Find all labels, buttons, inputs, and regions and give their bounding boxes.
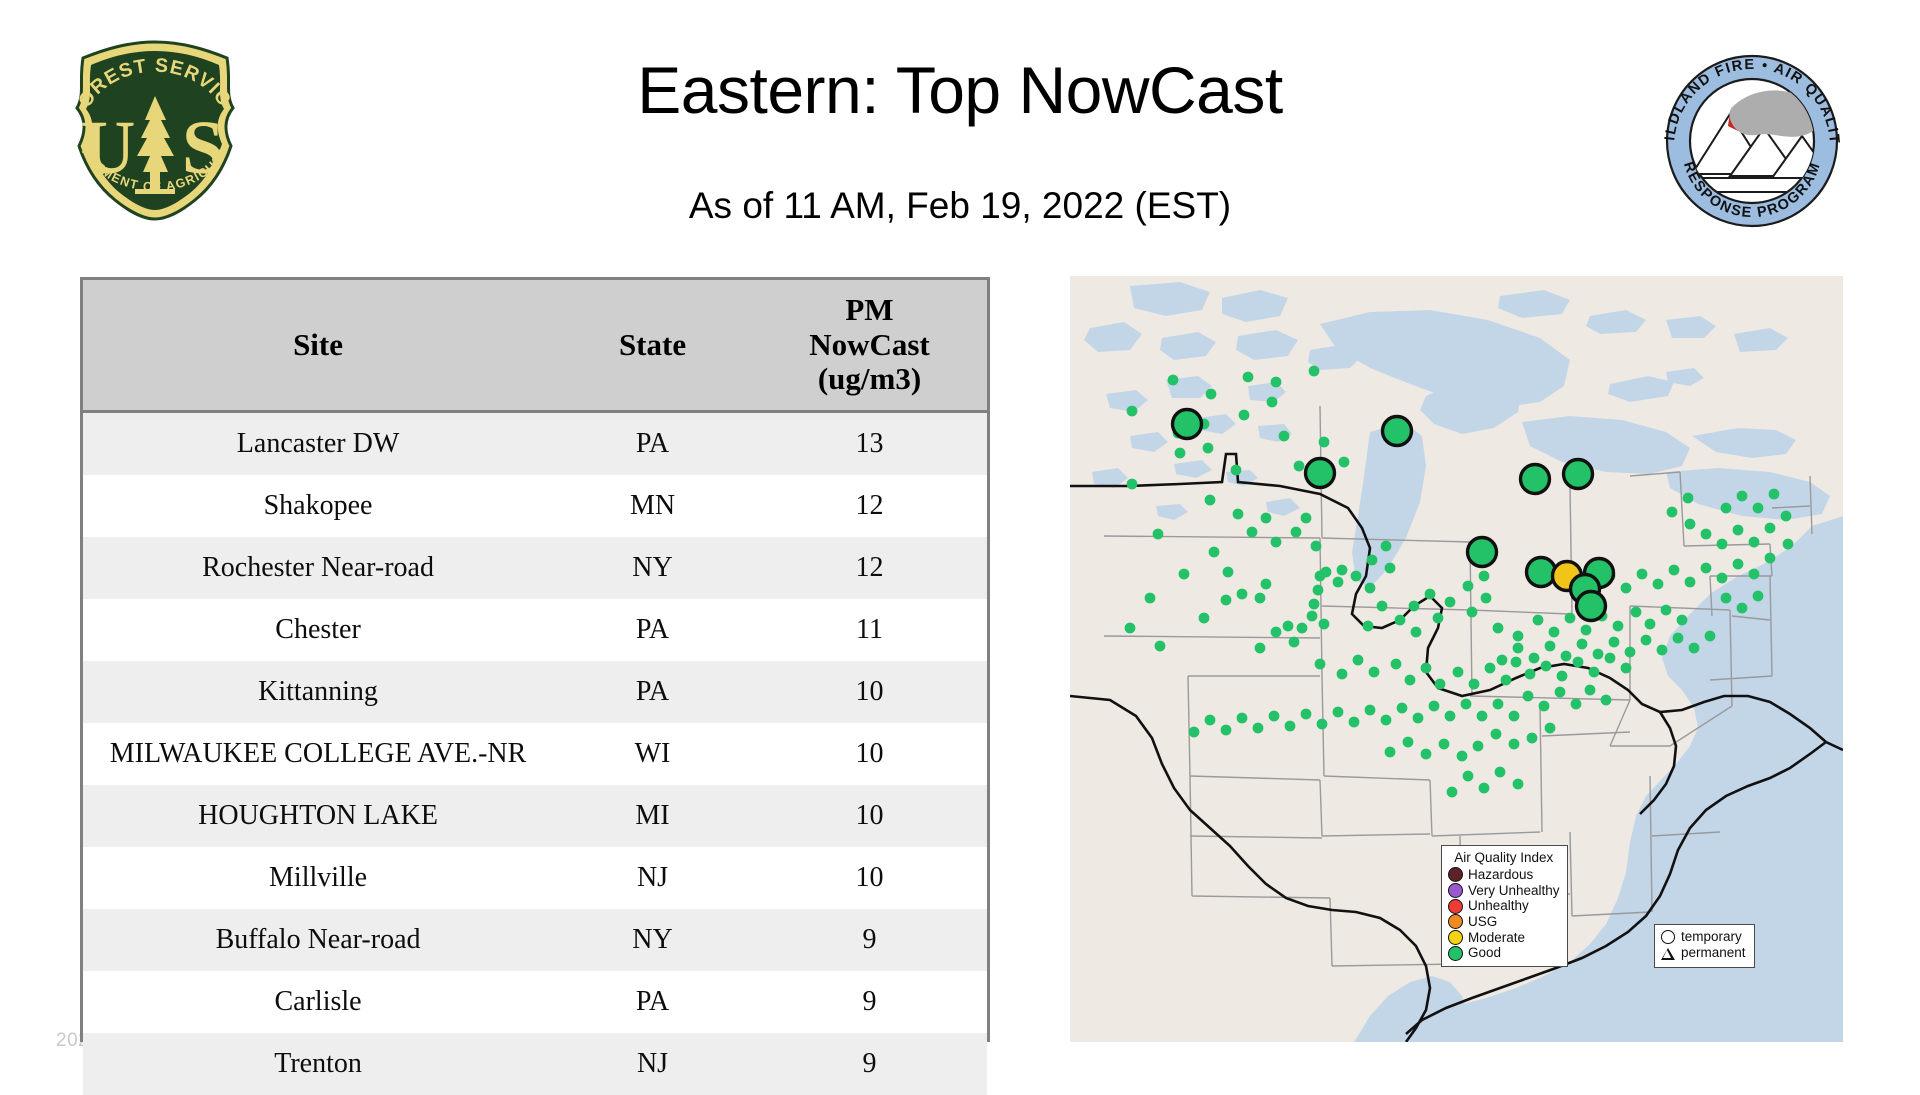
cell-state: MI	[553, 785, 752, 847]
cell-site: MILWAUKEE COLLEGE AVE.-NR	[83, 723, 553, 785]
aqi-legend-dot-icon	[1448, 867, 1463, 882]
cell-value: 10	[752, 661, 987, 723]
temporary-site-icon	[1661, 930, 1675, 944]
marker-millville	[1577, 592, 1606, 621]
cell-value: 12	[752, 475, 987, 537]
cell-state: PA	[553, 971, 752, 1033]
aqi-legend-title: Air Quality Index	[1448, 850, 1560, 865]
cell-state: NY	[553, 537, 752, 599]
forest-service-logo: FOREST SERVICE DEPARTMENT OF AGRICULTURE…	[55, 38, 255, 223]
table-row: ShakopeeMN12	[83, 475, 987, 537]
marker-kittanning	[1468, 538, 1497, 567]
cell-state: NJ	[553, 1033, 752, 1095]
legend-temporary-row: temporary	[1661, 929, 1746, 945]
cell-value: 9	[752, 971, 987, 1033]
cell-value: 9	[752, 909, 987, 971]
pm-header-line2: NowCast	[809, 327, 930, 362]
nowcast-table-container: Site State PM NowCast (ug/m3) Lancaster …	[80, 277, 990, 1042]
cell-site: Buffalo Near-road	[83, 909, 553, 971]
column-header-pm-nowcast: PM NowCast (ug/m3)	[752, 280, 987, 412]
table-row: MILWAUKEE COLLEGE AVE.-NRWI10	[83, 723, 987, 785]
cell-value: 13	[752, 412, 987, 476]
permanent-site-icon	[1661, 948, 1675, 960]
marker-milwaukee-college-ave	[1306, 459, 1335, 488]
aqi-legend-dot-icon	[1448, 946, 1463, 961]
aqi-legend: Air Quality Index HazardousVery Unhealth…	[1441, 845, 1568, 967]
page-title: Eastern: Top NowCast	[0, 56, 1920, 125]
aqi-legend-dot-icon	[1448, 899, 1463, 914]
cell-state: WI	[553, 723, 752, 785]
cell-value: 10	[752, 785, 987, 847]
cell-site: Kittanning	[83, 661, 553, 723]
cell-site: Chester	[83, 599, 553, 661]
pm-header-line1: PM	[845, 292, 893, 327]
aqi-legend-item: Unhealthy	[1448, 898, 1560, 914]
svg-text:U: U	[81, 106, 136, 190]
table-row: KittanningPA10	[83, 661, 987, 723]
svg-text:S: S	[182, 106, 224, 190]
cell-state: PA	[553, 599, 752, 661]
cell-site: Millville	[83, 847, 553, 909]
aqi-legend-item: Hazardous	[1448, 867, 1560, 883]
legend-temporary-label: temporary	[1681, 929, 1742, 945]
air-quality-map[interactable]: Air Quality Index HazardousVery Unhealth…	[1070, 276, 1843, 1042]
column-header-site: Site	[83, 280, 553, 412]
cell-state: MN	[553, 475, 752, 537]
cell-site: Trenton	[83, 1033, 553, 1095]
table-row: MillvilleNJ10	[83, 847, 987, 909]
legend-permanent-label: permanent	[1681, 945, 1746, 961]
marker-rochester-near-road	[1564, 460, 1593, 489]
cell-value: 9	[752, 1033, 987, 1095]
aqi-legend-label: Hazardous	[1468, 867, 1533, 883]
aqi-legend-label: Good	[1468, 945, 1501, 961]
cell-state: PA	[553, 661, 752, 723]
cell-site: HOUGHTON LAKE	[83, 785, 553, 847]
aqi-legend-label: Moderate	[1468, 930, 1525, 946]
aqi-legend-item: Very Unhealthy	[1448, 883, 1560, 899]
site-type-legend: temporary permanent	[1654, 924, 1755, 968]
marker-buffalo-near-road	[1521, 465, 1550, 494]
table-row: TrentonNJ9	[83, 1033, 987, 1095]
table-body: Lancaster DWPA13ShakopeeMN12Rochester Ne…	[83, 412, 987, 1095]
cell-site: Rochester Near-road	[83, 537, 553, 599]
aqi-legend-label: Unhealthy	[1468, 898, 1529, 914]
table-row: Rochester Near-roadNY12	[83, 537, 987, 599]
nowcast-table: Site State PM NowCast (ug/m3) Lancaster …	[83, 280, 987, 1095]
marker-carlisle	[1527, 558, 1556, 587]
legend-permanent-row: permanent	[1661, 945, 1746, 961]
wfaqrp-logo: WILDLAND FIRE • AIR QUALITY RESPONSE PRO…	[1652, 42, 1852, 240]
cell-site: Carlisle	[83, 971, 553, 1033]
aqi-legend-dot-icon	[1448, 914, 1463, 929]
marker-shakopee	[1173, 410, 1202, 439]
table-row: Buffalo Near-roadNY9	[83, 909, 987, 971]
cell-state: NY	[553, 909, 752, 971]
marker-houghton-lake	[1383, 417, 1412, 446]
cell-value: 12	[752, 537, 987, 599]
cell-value: 10	[752, 847, 987, 909]
page-subtitle: As of 11 AM, Feb 19, 2022 (EST)	[0, 185, 1920, 227]
aqi-legend-item: Good	[1448, 945, 1560, 961]
cell-state: NJ	[553, 847, 752, 909]
aqi-legend-label: Very Unhealthy	[1468, 883, 1560, 899]
table-row: ChesterPA11	[83, 599, 987, 661]
aqi-legend-dot-icon	[1448, 883, 1463, 898]
aqi-legend-label: USG	[1468, 914, 1497, 930]
table-header-row: Site State PM NowCast (ug/m3)	[83, 280, 987, 412]
table-row: CarlislePA9	[83, 971, 987, 1033]
column-header-state: State	[553, 280, 752, 412]
aqi-legend-item: USG	[1448, 914, 1560, 930]
cell-value: 11	[752, 599, 987, 661]
pm-header-line3: (ug/m3)	[818, 361, 921, 396]
cell-site: Shakopee	[83, 475, 553, 537]
cell-state: PA	[553, 412, 752, 476]
aqi-legend-rows: HazardousVery UnhealthyUnhealthyUSGModer…	[1448, 867, 1560, 961]
table-row: Lancaster DWPA13	[83, 412, 987, 476]
aqi-legend-dot-icon	[1448, 930, 1463, 945]
aqi-legend-item: Moderate	[1448, 930, 1560, 946]
cell-value: 10	[752, 723, 987, 785]
table-row: HOUGHTON LAKEMI10	[83, 785, 987, 847]
cell-site: Lancaster DW	[83, 412, 553, 476]
